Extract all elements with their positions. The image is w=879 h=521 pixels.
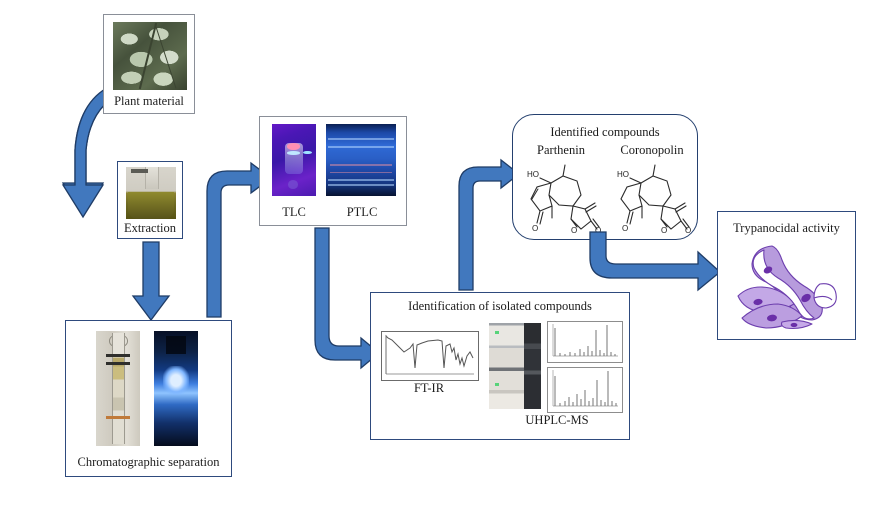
chromatographic-separation-label: Chromatographic separation [66,455,231,469]
identification-title: Identification of isolated compounds [371,299,629,314]
plant-material-image [113,22,187,90]
node-plant-material[interactable]: Plant material [103,14,195,114]
extraction-image [126,167,176,219]
node-trypanocidal-activity[interactable]: Trypanocidal activity [717,211,856,340]
svg-text:HO: HO [527,170,539,179]
trypanocidal-activity-label: Trypanocidal activity [718,221,855,235]
structure-coronopolin: HO O O O [611,161,695,235]
node-chromatographic-separation[interactable]: Chromatographic separation [65,320,232,477]
compound-name-coronopolin: Coronopolin [609,143,695,158]
workflow-diagram: Plant material Extraction Chromatographi… [0,0,879,521]
compound-name-parthenin: Parthenin [519,143,603,158]
node-tlc-ptlc[interactable]: TLC PTLC [259,116,407,226]
arrow-extraction-to-chromatography [131,240,171,324]
ptlc-label: PTLC [324,205,400,219]
node-identification[interactable]: Identification of isolated compounds FT-… [370,292,630,440]
extraction-label: Extraction [118,221,182,235]
uhplc-ms-instrument-image [489,323,541,409]
identified-compounds-title: Identified compounds [513,125,697,140]
mass-spectrum-1 [547,321,623,363]
ftir-label: FT-IR [381,381,477,395]
ftir-spectrum-image [381,331,479,381]
svg-text:O: O [532,224,538,233]
svg-text:O: O [571,226,577,235]
tlc-plate-image [272,124,316,196]
structure-parthenin: HO O O O [521,161,605,235]
node-identified-compounds[interactable]: Identified compounds Parthenin Coronopol… [512,114,698,240]
tlc-label: TLC [264,205,324,219]
uhplc-ms-label: UHPLC-MS [491,413,623,427]
chromatography-column-image [96,331,140,446]
trypanocidal-cells-image [728,242,846,332]
plant-material-label: Plant material [104,94,194,108]
node-extraction[interactable]: Extraction [117,161,183,239]
uv-column-image [154,331,198,446]
mass-spectrum-2 [547,367,623,413]
arrow-compounds-to-activity [586,230,722,292]
ptlc-plate-image [326,124,396,196]
svg-text:HO: HO [617,170,629,179]
